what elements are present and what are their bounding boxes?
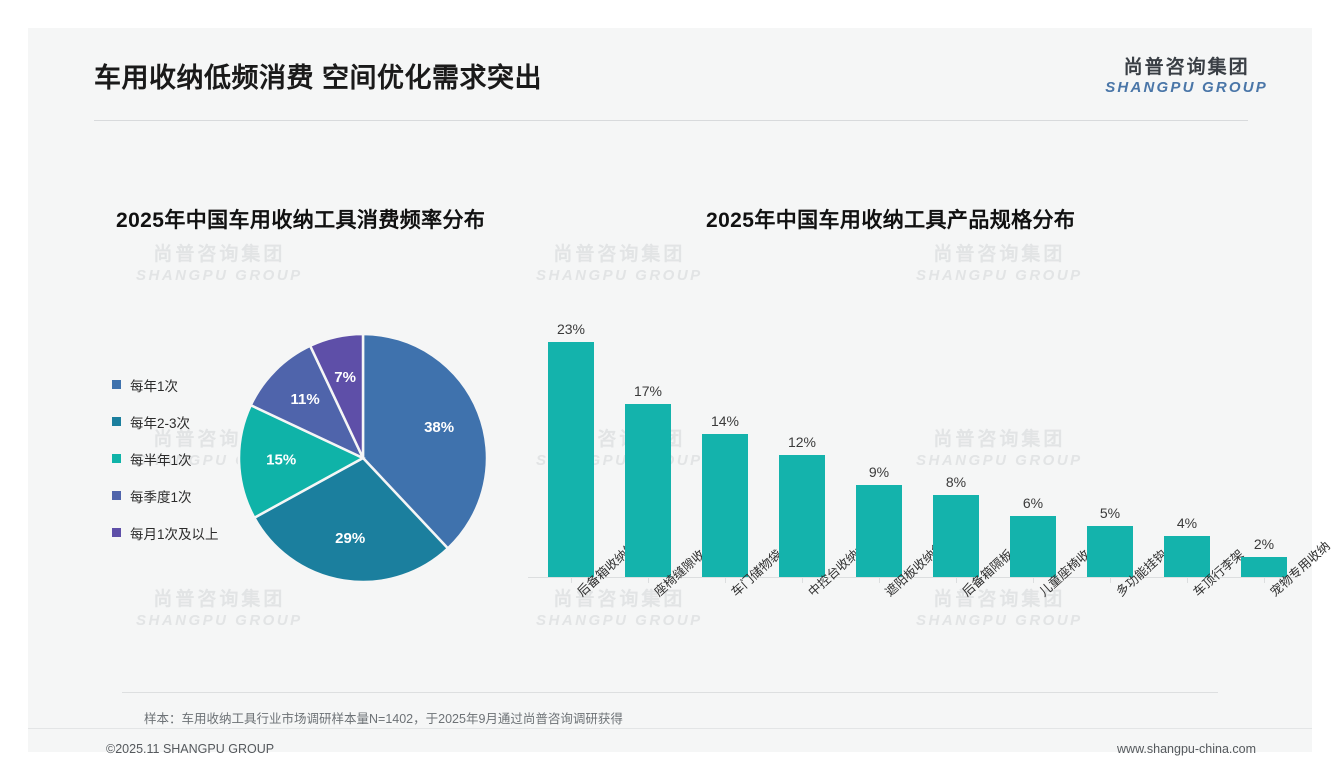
bar-column[interactable]: 14% <box>702 434 748 577</box>
legend-item[interactable]: 每月1次及以上 <box>112 514 242 551</box>
axis-tick <box>956 578 957 583</box>
bar-rect[interactable] <box>856 485 902 577</box>
bar-value-label: 8% <box>946 474 966 490</box>
legend-item-label: 每月1次及以上 <box>130 523 219 543</box>
legend-item-label: 每年2-3次 <box>130 412 190 432</box>
legend-swatch-icon <box>112 380 121 389</box>
legend-item-label: 每季度1次 <box>130 486 192 506</box>
footer-website: www.shangpu-china.com <box>1117 742 1256 756</box>
bar-rect[interactable] <box>702 434 748 577</box>
sample-footnote: 样本：车用收纳工具行业市场调研样本量N=1402，于2025年9月通过尚普咨询调… <box>144 708 623 727</box>
bar-rect[interactable] <box>1087 526 1133 577</box>
bar-value-label: 14% <box>711 413 739 429</box>
watermark-line1: 尚普咨询集团 <box>916 243 1083 267</box>
bar-value-label: 6% <box>1023 495 1043 511</box>
bar-value-label: 12% <box>788 434 816 450</box>
axis-tick <box>802 578 803 583</box>
watermark: 尚普咨询集团 SHANGPU GROUP <box>136 243 303 286</box>
slide-canvas: 尚普咨询集团 SHANGPU GROUP 尚普咨询集团 SHANGPU GROU… <box>28 28 1312 752</box>
bar-value-label: 23% <box>557 321 585 337</box>
bar-column[interactable]: 5% <box>1087 526 1133 577</box>
bar-value-label: 5% <box>1100 505 1120 521</box>
footer-copyright: ©2025.11 SHANGPU GROUP <box>106 742 274 756</box>
watermark-line2: SHANGPU GROUP <box>536 612 703 631</box>
bar-rect[interactable] <box>933 495 979 577</box>
watermark-line1: 尚普咨询集团 <box>136 243 303 267</box>
bar-value-label: 17% <box>634 383 662 399</box>
pie-slice-value: 15% <box>266 452 296 469</box>
watermark-line1: 尚普咨询集团 <box>916 588 1083 612</box>
page-title: 车用收纳低频消费 空间优化需求突出 <box>94 56 542 95</box>
bar-column[interactable]: 17% <box>625 404 671 577</box>
axis-tick <box>879 578 880 583</box>
watermark-line2: SHANGPU GROUP <box>136 267 303 286</box>
bar-column[interactable]: 9% <box>856 485 902 577</box>
bar-value-label: 9% <box>869 464 889 480</box>
bar-chart-title: 2025年中国车用收纳工具产品规格分布 <box>706 204 1075 234</box>
legend-item-label: 每半年1次 <box>130 449 192 469</box>
axis-tick <box>1110 578 1111 583</box>
bar-rect[interactable] <box>625 404 671 577</box>
axis-tick <box>725 578 726 583</box>
bar-column[interactable]: 12% <box>779 455 825 577</box>
bar-column[interactable]: 8% <box>933 495 979 577</box>
watermark-line1: 尚普咨询集团 <box>136 588 303 612</box>
legend-item[interactable]: 每年1次 <box>112 366 242 403</box>
pie-slice-value: 7% <box>334 369 356 386</box>
bar-value-label: 2% <box>1254 536 1274 552</box>
watermark: 尚普咨询集团 SHANGPU GROUP <box>916 588 1083 631</box>
legend-swatch-icon <box>112 528 121 537</box>
watermark: 尚普咨询集团 SHANGPU GROUP <box>136 588 303 631</box>
pie-chart-legend: 每年1次每年2-3次每半年1次每季度1次每月1次及以上 <box>112 366 242 551</box>
watermark-line2: SHANGPU GROUP <box>916 612 1083 631</box>
legend-item[interactable]: 每季度1次 <box>112 477 242 514</box>
bar-rect[interactable] <box>548 342 594 577</box>
legend-item[interactable]: 每年2-3次 <box>112 403 242 440</box>
bar-rect[interactable] <box>1010 516 1056 577</box>
watermark-line2: SHANGPU GROUP <box>136 612 303 631</box>
watermark: 尚普咨询集团 SHANGPU GROUP <box>536 588 703 631</box>
legend-item[interactable]: 每半年1次 <box>112 440 242 477</box>
pie-slice-value: 11% <box>291 391 320 408</box>
watermark-line1: 尚普咨询集团 <box>536 243 703 267</box>
axis-tick <box>648 578 649 583</box>
legend-item-label: 每年1次 <box>130 375 178 395</box>
pie-slice-value: 38% <box>424 419 454 436</box>
logo-english-name: SHANGPU GROUP <box>1105 80 1268 96</box>
legend-swatch-icon <box>112 454 121 463</box>
bar-value-label: 4% <box>1177 515 1197 531</box>
bar-chart: 23%后备箱收纳箱17%座椅缝隙收...14%车门储物袋12%中控台收纳盒9%遮… <box>528 278 1298 578</box>
axis-tick <box>571 578 572 583</box>
bar-column[interactable]: 6% <box>1010 516 1056 577</box>
bar-column[interactable]: 23% <box>548 342 594 577</box>
axis-tick <box>1264 578 1265 583</box>
footer-divider <box>28 728 1312 729</box>
pie-chart-title: 2025年中国车用收纳工具消费频率分布 <box>116 204 485 234</box>
brand-logo: 尚普咨询集团 SHANGPU GROUP <box>1105 58 1268 96</box>
bar-rect[interactable] <box>779 455 825 577</box>
pie-chart: 38%29%15%11%7% <box>233 328 493 588</box>
slide-header: 车用收纳低频消费 空间优化需求突出 尚普咨询集团 SHANGPU GROUP <box>28 28 1312 122</box>
logo-chinese-name: 尚普咨询集团 <box>1105 58 1268 78</box>
axis-tick <box>1187 578 1188 583</box>
footnote-divider <box>122 692 1218 693</box>
axis-tick <box>1033 578 1034 583</box>
legend-swatch-icon <box>112 417 121 426</box>
watermark-line1: 尚普咨询集团 <box>536 588 703 612</box>
header-divider <box>94 120 1248 121</box>
pie-slice-value: 29% <box>335 530 365 547</box>
legend-swatch-icon <box>112 491 121 500</box>
